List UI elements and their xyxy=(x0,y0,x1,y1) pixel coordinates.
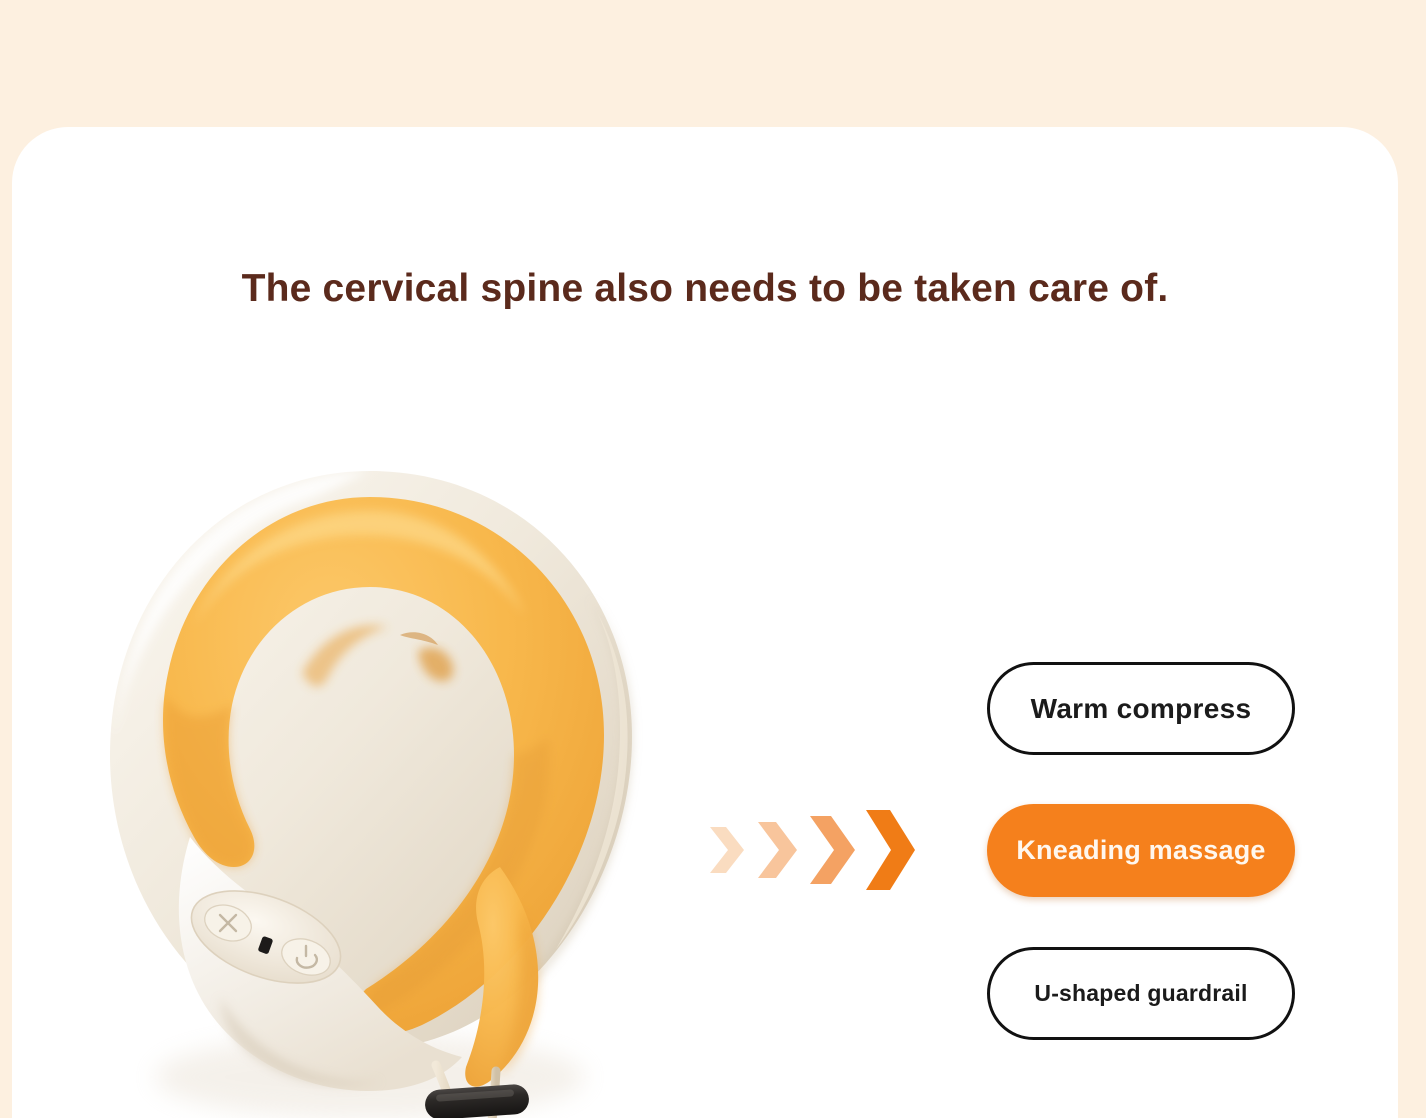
option-warm-compress[interactable]: Warm compress xyxy=(987,662,1295,755)
chevron-icon-3 xyxy=(810,816,855,884)
option-u-shaped-guardrail[interactable]: U-shaped guardrail xyxy=(987,947,1295,1040)
option-label: Kneading massage xyxy=(1016,835,1265,866)
product-image xyxy=(70,437,670,1118)
option-kneading-massage[interactable]: Kneading massage xyxy=(987,804,1295,897)
chevron-icon-4 xyxy=(866,810,915,890)
progress-chevrons xyxy=(700,795,915,905)
chevron-icon-1 xyxy=(710,827,744,873)
option-label: Warm compress xyxy=(1031,693,1252,725)
feature-options-list: Warm compress Kneading massage U-shaped … xyxy=(975,652,1295,1052)
page-title: The cervical spine also needs to be take… xyxy=(12,267,1398,311)
content-card: The cervical spine also needs to be take… xyxy=(12,127,1398,1118)
chevron-icon-2 xyxy=(758,822,797,878)
option-label: U-shaped guardrail xyxy=(1034,980,1247,1007)
